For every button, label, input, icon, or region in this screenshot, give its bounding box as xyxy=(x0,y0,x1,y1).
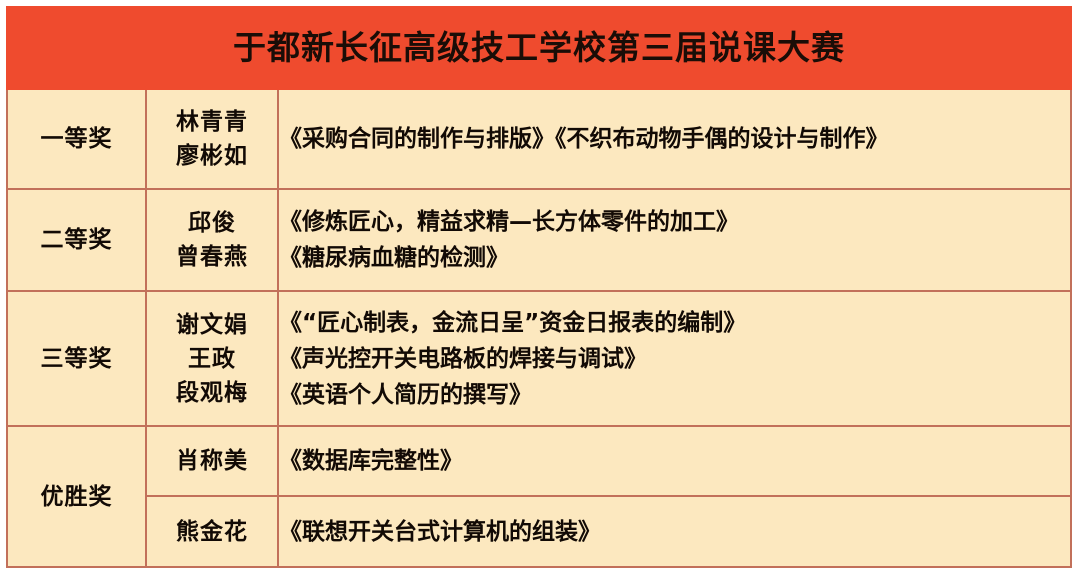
lesson-topics-cell: 《数据库完整性》 xyxy=(278,426,1071,496)
lesson-topic: 《“匠心制表，金流日呈”资金日报表的编制》 xyxy=(279,305,1070,341)
award-results-table: 于都新长征高级技工学校第三届说课大赛 一等奖 林青青 廖彬如 《采购合同的制作与… xyxy=(6,6,1072,568)
table-row: 二等奖 邱俊 曾春燕 《修炼匠心，精益求精—长方体零件的加工》 《糖尿病血糖的检… xyxy=(7,189,1071,291)
lesson-topic: 《联想开关台式计算机的组装》 xyxy=(279,514,1070,550)
winner-names-cell: 肖称美 xyxy=(146,426,278,496)
poster-page: 于都新长征高级技工学校第三届说课大赛 一等奖 林青青 廖彬如 《采购合同的制作与… xyxy=(0,0,1080,566)
winner-name: 曾春燕 xyxy=(147,240,277,274)
award-level-cell: 二等奖 xyxy=(7,189,146,291)
table-row: 三等奖 谢文娟 王政 段观梅 《“匠心制表，金流日呈”资金日报表的编制》 《声光… xyxy=(7,291,1071,426)
winner-names-cell: 熊金花 xyxy=(146,496,278,567)
award-level-label: 三等奖 xyxy=(8,344,145,374)
lesson-topic: 《数据库完整性》 xyxy=(279,443,1070,479)
page-title: 于都新长征高级技工学校第三届说课大赛 xyxy=(8,29,1070,67)
poster-title-cell: 于都新长征高级技工学校第三届说课大赛 xyxy=(7,7,1071,89)
winner-name: 谢文娟 xyxy=(147,308,277,342)
winner-name: 段观梅 xyxy=(147,376,277,410)
lesson-topics-cell: 《“匠心制表，金流日呈”资金日报表的编制》 《声光控开关电路板的焊接与调试》 《… xyxy=(278,291,1071,426)
winner-names-cell: 谢文娟 王政 段观梅 xyxy=(146,291,278,426)
award-level-cell: 一等奖 xyxy=(7,89,146,189)
winner-name: 肖称美 xyxy=(147,444,277,478)
award-level-cell: 优胜奖 xyxy=(7,426,146,567)
winner-name: 廖彬如 xyxy=(147,139,277,173)
winner-name: 邱俊 xyxy=(147,206,277,240)
table-row: 优胜奖 肖称美 《数据库完整性》 xyxy=(7,426,1071,496)
award-level-cell: 三等奖 xyxy=(7,291,146,426)
winner-names-cell: 邱俊 曾春燕 xyxy=(146,189,278,291)
winner-name: 林青青 xyxy=(147,105,277,139)
winner-name: 王政 xyxy=(147,342,277,376)
table-row: 熊金花 《联想开关台式计算机的组装》 xyxy=(7,496,1071,567)
lesson-topic: 《糖尿病血糖的检测》 xyxy=(279,240,1070,276)
lesson-topic: 《修炼匠心，精益求精—长方体零件的加工》 xyxy=(279,204,1070,240)
winner-name: 熊金花 xyxy=(147,515,277,549)
award-level-label: 优胜奖 xyxy=(8,482,145,512)
lesson-topic: 《英语个人简历的撰写》 xyxy=(279,377,1070,413)
table-row: 一等奖 林青青 廖彬如 《采购合同的制作与排版》《不织布动物手偶的设计与制作》 xyxy=(7,89,1071,189)
award-level-label: 二等奖 xyxy=(8,225,145,255)
lesson-topics-cell: 《联想开关台式计算机的组装》 xyxy=(278,496,1071,567)
winner-names-cell: 林青青 廖彬如 xyxy=(146,89,278,189)
table-title-row: 于都新长征高级技工学校第三届说课大赛 xyxy=(7,7,1071,89)
lesson-topic: 《声光控开关电路板的焊接与调试》 xyxy=(279,341,1070,377)
award-level-label: 一等奖 xyxy=(8,124,145,154)
lesson-topic: 《采购合同的制作与排版》《不织布动物手偶的设计与制作》 xyxy=(279,121,1070,157)
lesson-topics-cell: 《修炼匠心，精益求精—长方体零件的加工》 《糖尿病血糖的检测》 xyxy=(278,189,1071,291)
lesson-topics-cell: 《采购合同的制作与排版》《不织布动物手偶的设计与制作》 xyxy=(278,89,1071,189)
